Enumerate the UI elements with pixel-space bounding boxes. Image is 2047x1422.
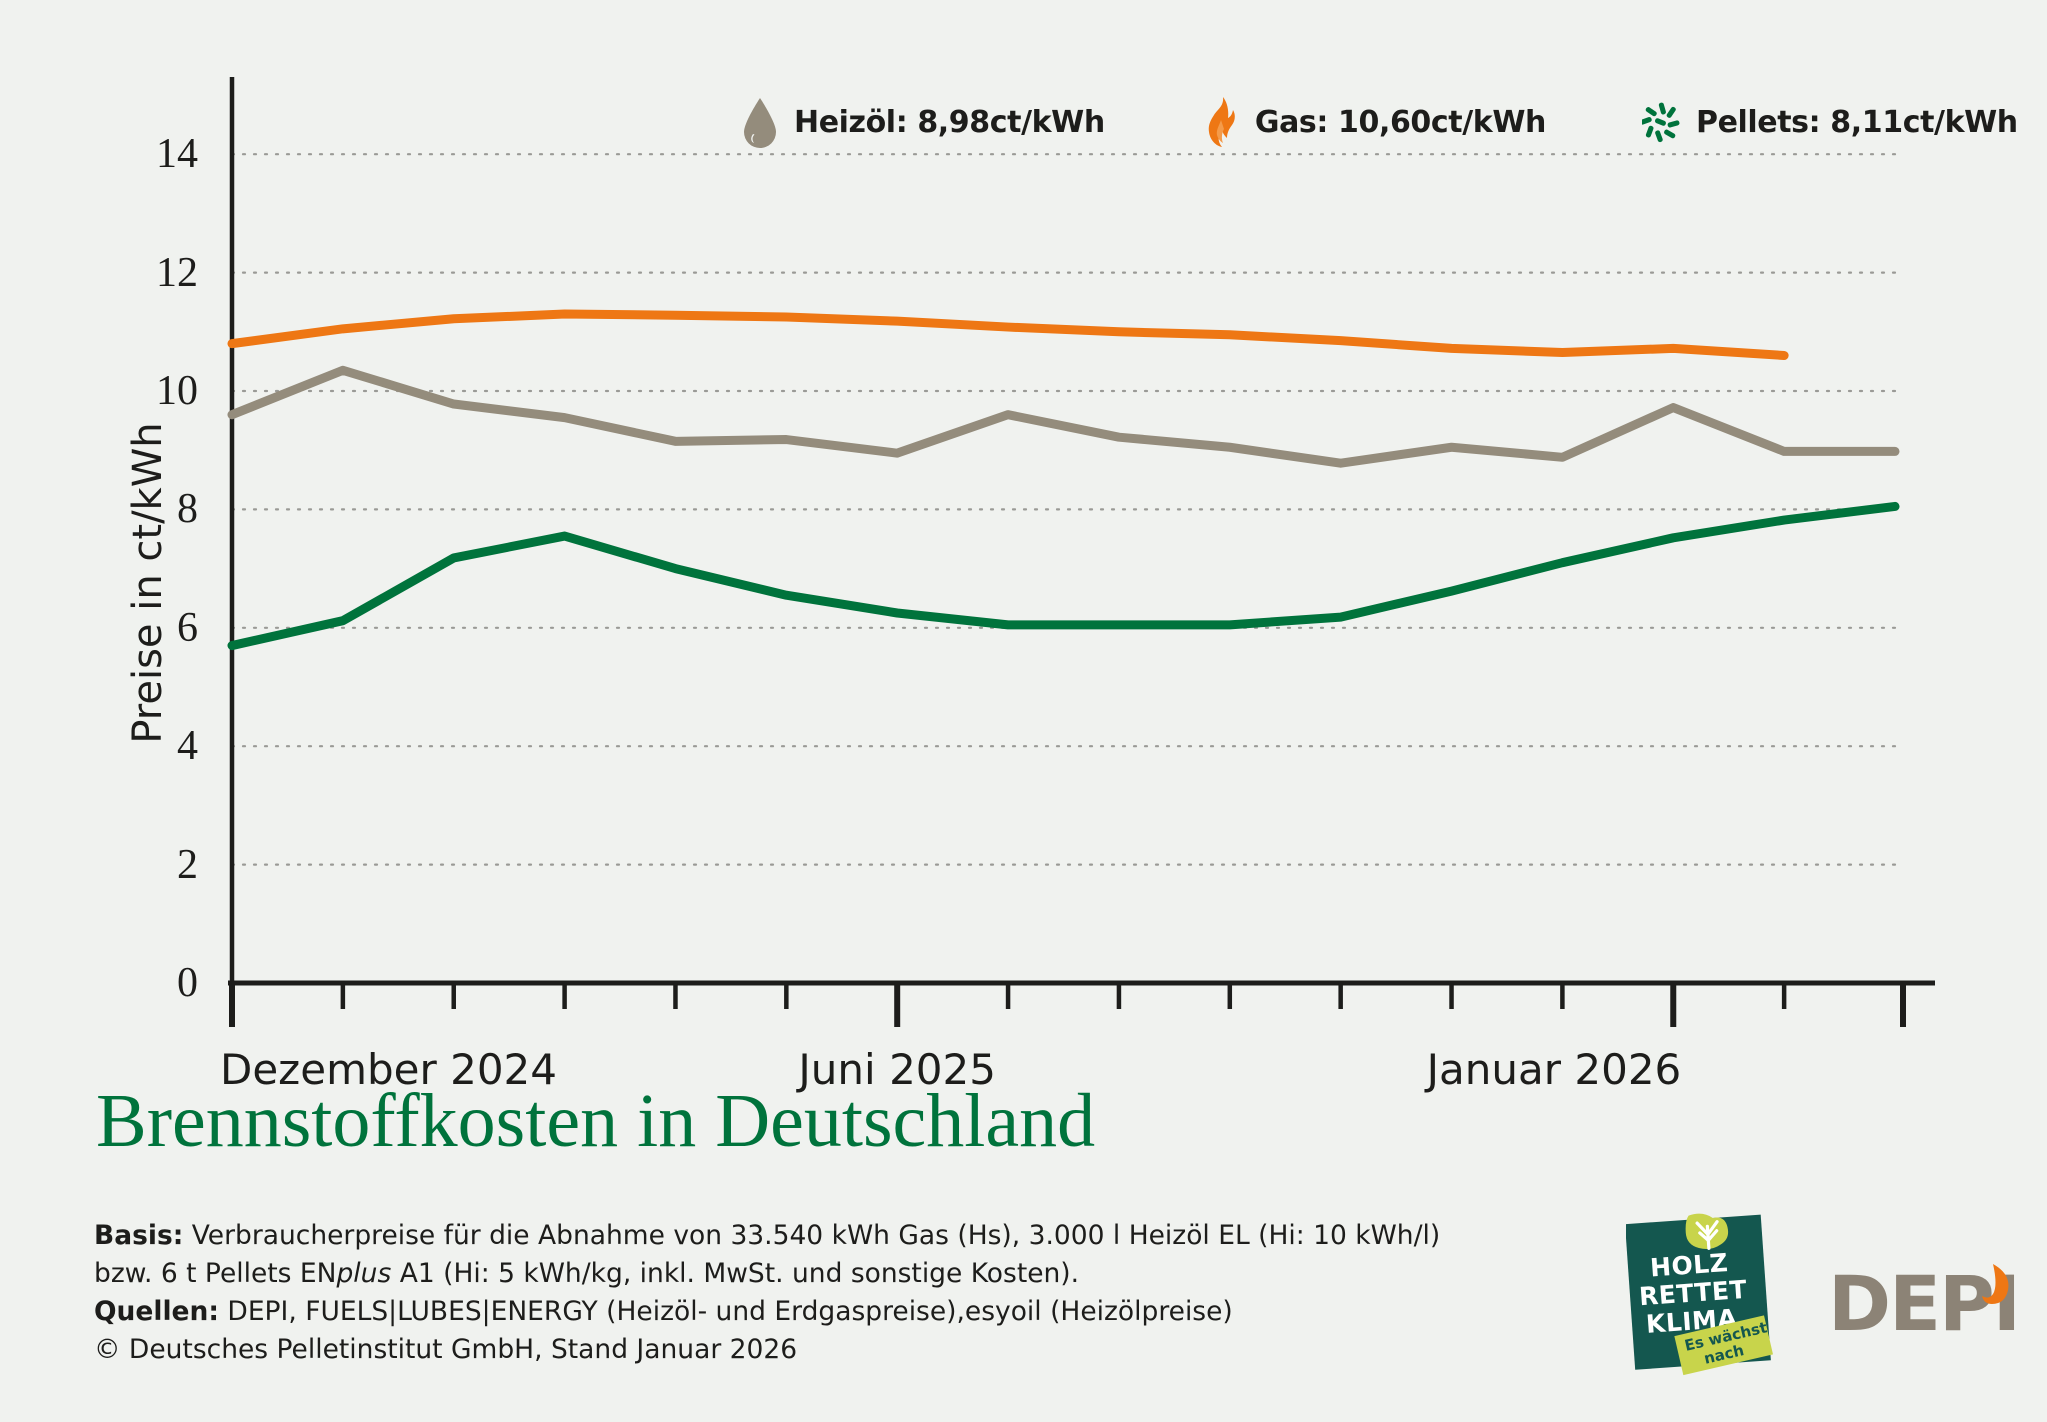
footer-pellets-text-b: A1 (Hi: 5 kWh/kg, inkl. MwSt. und sonsti…	[391, 1258, 1079, 1289]
footer-line-basis: Basis: Verbraucherpreise für die Abnahme…	[94, 1217, 1514, 1255]
footer-line-pellets: bzw. 6 t Pellets ENplus A1 (Hi: 5 kWh/kg…	[94, 1255, 1514, 1293]
y-axis-title: Preise in ct/kWh	[125, 373, 171, 793]
footer-enplus-italic: plus	[336, 1258, 391, 1289]
footer-line-copyright: © Deutsches Pelletinstitut GmbH, Stand J…	[94, 1331, 1514, 1369]
series-line-gas	[232, 314, 1784, 355]
x-tick-label: Januar 2026	[1427, 1045, 1682, 1094]
y-tick-label: 0	[80, 959, 198, 1007]
holz-rettet-klima-logo: HOLZ RETTET KLIMA Es wächst nach	[1626, 1211, 1776, 1376]
series-line-pellets	[232, 506, 1895, 645]
chart-title: Brennstoffkosten in Deutschland	[96, 1078, 1095, 1165]
infographic-canvas: Heizöl: 8,98ct/kWh Gas: 10,60ct/kWh	[0, 0, 2047, 1417]
y-tick-label: 12	[80, 249, 198, 297]
series-line-heizl	[232, 370, 1895, 463]
footer-quellen-text: DEPI, FUELS|LUBES|ENERGY (Heizöl- und Er…	[219, 1296, 1233, 1327]
y-tick-label: 14	[80, 130, 198, 178]
footer-quellen-label: Quellen:	[94, 1296, 219, 1327]
chart-svg	[0, 0, 2047, 1417]
footer-notes: Basis: Verbraucherpreise für die Abnahme…	[94, 1217, 1514, 1370]
depi-logo: DEPI	[1828, 1258, 2018, 1348]
footer-basis-text: Verbraucherpreise für die Abnahme von 33…	[183, 1220, 1440, 1251]
y-tick-label: 2	[80, 841, 198, 889]
footer-pellets-text-a: bzw. 6 t Pellets EN	[94, 1258, 336, 1289]
line-chart: 02468101214 Dezember 2024Juni 2025Januar…	[0, 0, 2047, 1417]
footer-line-quellen: Quellen: DEPI, FUELS|LUBES|ENERGY (Heizö…	[94, 1293, 1514, 1331]
footer-basis-label: Basis:	[94, 1220, 183, 1251]
